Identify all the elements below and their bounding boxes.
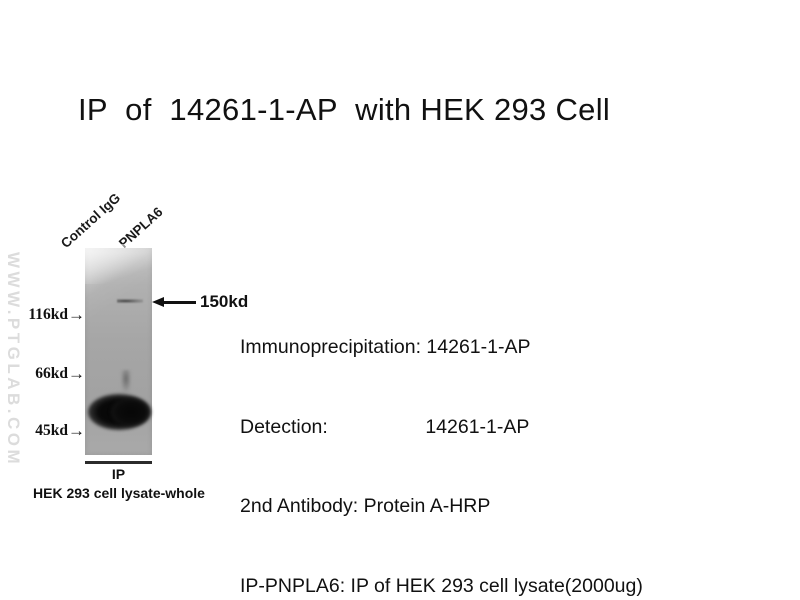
- figure-title: IP of 14261-1-AP with HEK 293 Cell: [78, 92, 610, 128]
- ip-bracket-label: IP: [85, 466, 152, 482]
- target-band-pointer: 150kd: [152, 292, 248, 312]
- left-arrow-icon: [152, 297, 196, 307]
- band-150kd: [117, 299, 143, 303]
- detail-ip-pnpla6: IP-PNPLA6: IP of HEK 293 cell lysate(200…: [240, 573, 643, 600]
- figure-canvas: IP of 14261-1-AP with HEK 293 Cell Contr…: [0, 0, 800, 600]
- ip-bracket-bar: [85, 461, 152, 464]
- sample-caption: HEK 293 cell lysate-whole: [33, 485, 205, 501]
- western-blot-membrane: [85, 248, 152, 455]
- mw-marker-66kd: 66kd→: [35, 365, 85, 383]
- detail-second-antibody: 2nd Antibody: Protein A-HRP: [240, 493, 643, 520]
- membrane-highlight-streak: [79, 244, 165, 284]
- mw-marker-45kd-label: 45kd: [35, 422, 68, 439]
- mw-marker-66kd-arrow-icon: →: [68, 365, 85, 382]
- mw-marker-45kd: 45kd→: [35, 422, 85, 440]
- band-igg-heavy-chain-lane2: [111, 398, 151, 426]
- mw-marker-116kd-arrow-icon: →: [68, 306, 85, 323]
- lane-label-pnpla6: PNPLA6: [116, 204, 166, 251]
- arrow-shaft: [162, 301, 196, 304]
- mw-marker-45kd-arrow-icon: →: [68, 422, 85, 439]
- ip-bracket: IP: [85, 461, 152, 482]
- mw-marker-66kd-label: 66kd: [35, 365, 68, 382]
- lane-label-control-igg: Control IgG: [58, 190, 123, 251]
- experiment-details: Immunoprecipitation: 14261-1-AP Detectio…: [240, 281, 643, 600]
- mw-marker-116kd-label: 116kd: [28, 306, 68, 323]
- mw-marker-group: 116kd→ 66kd→ 45kd→: [0, 248, 85, 455]
- band-smear-70kd: [121, 370, 131, 392]
- mw-marker-116kd: 116kd→: [28, 306, 85, 324]
- detail-immunoprecipitation: Immunoprecipitation: 14261-1-AP: [240, 334, 643, 361]
- detail-detection: Detection: 14261-1-AP: [240, 414, 643, 441]
